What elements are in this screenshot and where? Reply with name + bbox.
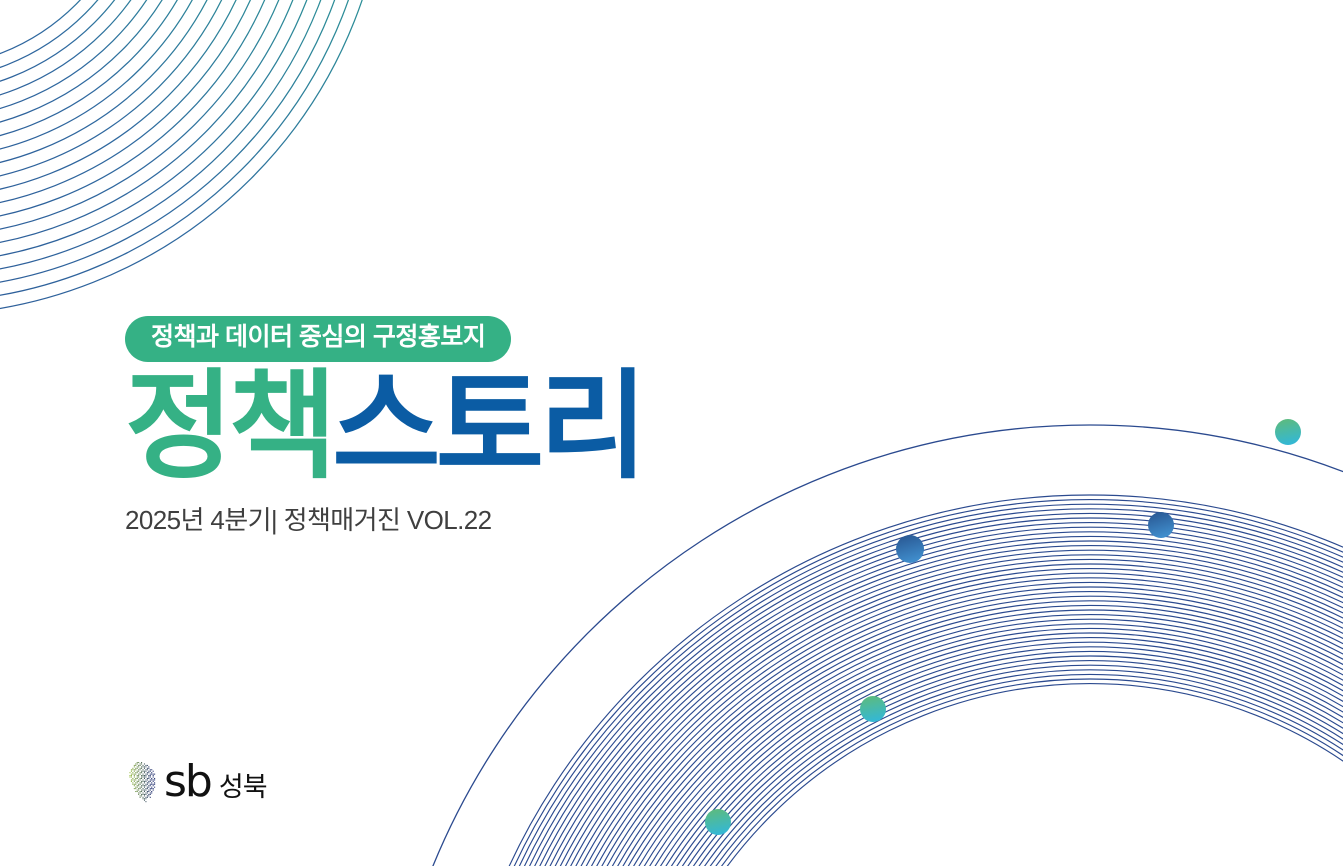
cover-text-block: 정책과 데이터 중심의 구정홍보지 정책스토리 2025년 4분기| 정책매거진… <box>125 316 825 537</box>
accent-dot-green-mid <box>860 696 886 722</box>
accent-dot-green-upper-right <box>1275 419 1301 445</box>
seongbuk-leaf-mark-icon <box>126 760 158 804</box>
accent-dot-blue-upper <box>1148 512 1174 538</box>
page-title-part-blue: 스토리 <box>332 361 643 493</box>
magazine-cover: 정책과 데이터 중심의 구정홍보지 정책스토리 2025년 4분기| 정책매거진… <box>0 0 1343 866</box>
brand-logo: sb 성북 <box>126 760 267 804</box>
tagline-badge: 정책과 데이터 중심의 구정홍보지 <box>125 316 511 362</box>
brand-district-name: 성북 <box>219 774 267 804</box>
page-title: 정책스토리 <box>125 368 825 486</box>
accent-dot-green-lower <box>705 809 731 835</box>
page-title-part-green: 정책 <box>125 361 332 493</box>
brand-wordmark: sb <box>164 760 211 804</box>
issue-line: 2025년 4분기| 정책매거진 VOL.22 <box>125 500 825 537</box>
accent-dot-blue-left <box>896 535 924 563</box>
